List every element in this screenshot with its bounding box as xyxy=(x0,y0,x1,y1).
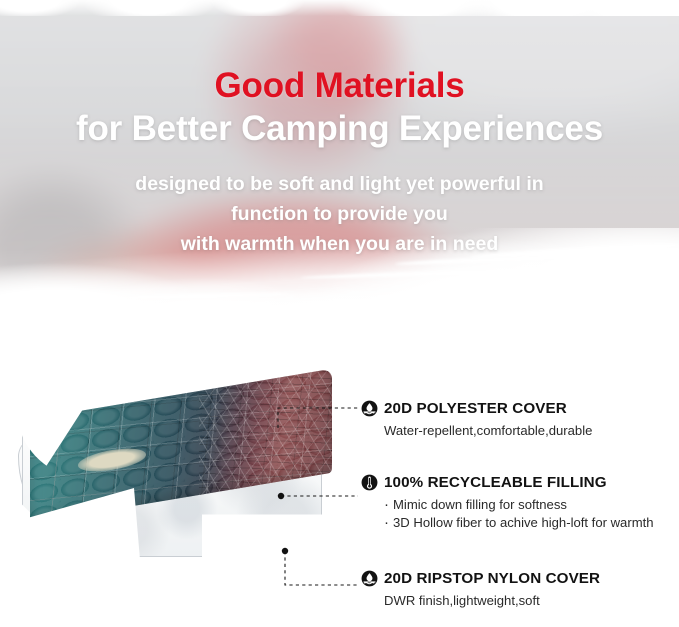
hero-description-line-2: function to provide you xyxy=(0,199,679,229)
product-diagram-section: 20D POLYESTER COVER Water-repellent,comf… xyxy=(0,330,679,627)
hero-description-line-3: with warmth when you are in need xyxy=(0,229,679,259)
spec-header: 20D RIPSTOP NYLON COVER xyxy=(361,570,679,587)
product-cutaway-image xyxy=(18,392,340,582)
hero-description-line-1: designed to be soft and light yet powerf… xyxy=(0,169,679,199)
thermometer-icon xyxy=(361,474,378,491)
product-infographic: Good Materials for Better Camping Experi… xyxy=(0,0,679,627)
spec-item-recycleable-filling: 100% RECYCLEABLE FILLING Mimic down fill… xyxy=(361,474,679,531)
spec-subtitle: DWR finish,lightweight,soft xyxy=(384,592,679,610)
hero-title-primary: Good Materials xyxy=(0,66,679,107)
fiber-crinkle-texture xyxy=(199,369,332,495)
spec-bullet: 3D Hollow fiber to achive high-loft for … xyxy=(384,514,679,532)
spec-item-ripstop-nylon-cover: 20D RIPSTOP NYLON COVER DWR finish,light… xyxy=(361,570,679,610)
spec-item-polyester-cover: 20D POLYESTER COVER Water-repellent,comf… xyxy=(361,400,679,440)
hero-banner: Good Materials for Better Camping Experi… xyxy=(0,0,679,320)
spec-header: 100% RECYCLEABLE FILLING xyxy=(361,474,679,491)
spec-header: 20D POLYESTER COVER xyxy=(361,400,679,417)
water-repellent-icon xyxy=(361,570,378,587)
spec-bullet: Mimic down filling for softness xyxy=(384,496,679,514)
water-repellent-icon xyxy=(361,400,378,417)
spec-title: 100% RECYCLEABLE FILLING xyxy=(384,474,607,491)
spec-title: 20D POLYESTER COVER xyxy=(384,400,567,417)
hero-text-block: Good Materials for Better Camping Experi… xyxy=(0,0,679,259)
hero-title-secondary: for Better Camping Experiences xyxy=(0,109,679,150)
spec-bullet-list: Mimic down filling for softness 3D Hollo… xyxy=(384,496,679,531)
hero-description: designed to be soft and light yet powerf… xyxy=(0,169,679,259)
spec-title: 20D RIPSTOP NYLON COVER xyxy=(384,570,600,587)
spec-subtitle: Water-repellent,comfortable,durable xyxy=(384,422,679,440)
